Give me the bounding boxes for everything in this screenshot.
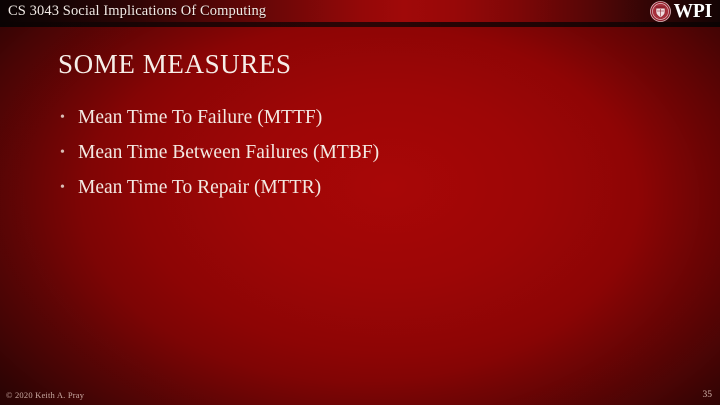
wpi-wordmark: WPI: [674, 2, 712, 22]
list-item: • Mean Time To Repair (MTTR): [58, 176, 658, 199]
bullet-point-icon: •: [60, 176, 65, 199]
slide-title: SOME MEASURES: [58, 48, 292, 80]
bullet-point-icon: •: [60, 141, 65, 164]
list-item: • Mean Time To Failure (MTTF): [58, 106, 658, 129]
copyright-notice: © 2020 Keith A. Pray: [6, 390, 84, 401]
course-title: CS 3043 Social Implications Of Computing: [8, 2, 266, 21]
wpi-seal-icon: [650, 1, 671, 22]
list-item-text: Mean Time Between Failures (MTBF): [78, 142, 379, 163]
slide-number: 35: [703, 390, 713, 401]
header-divider: [0, 22, 720, 27]
list-item: • Mean Time Between Failures (MTBF): [58, 141, 658, 164]
wpi-logo: WPI: [650, 0, 712, 23]
bullet-point-icon: •: [60, 106, 65, 129]
list-item-text: Mean Time To Repair (MTTR): [78, 177, 321, 198]
bullet-list: • Mean Time To Failure (MTTF) • Mean Tim…: [58, 106, 658, 211]
presentation-slide: CS 3043 Social Implications Of Computing…: [0, 0, 720, 405]
list-item-text: Mean Time To Failure (MTTF): [78, 107, 322, 128]
